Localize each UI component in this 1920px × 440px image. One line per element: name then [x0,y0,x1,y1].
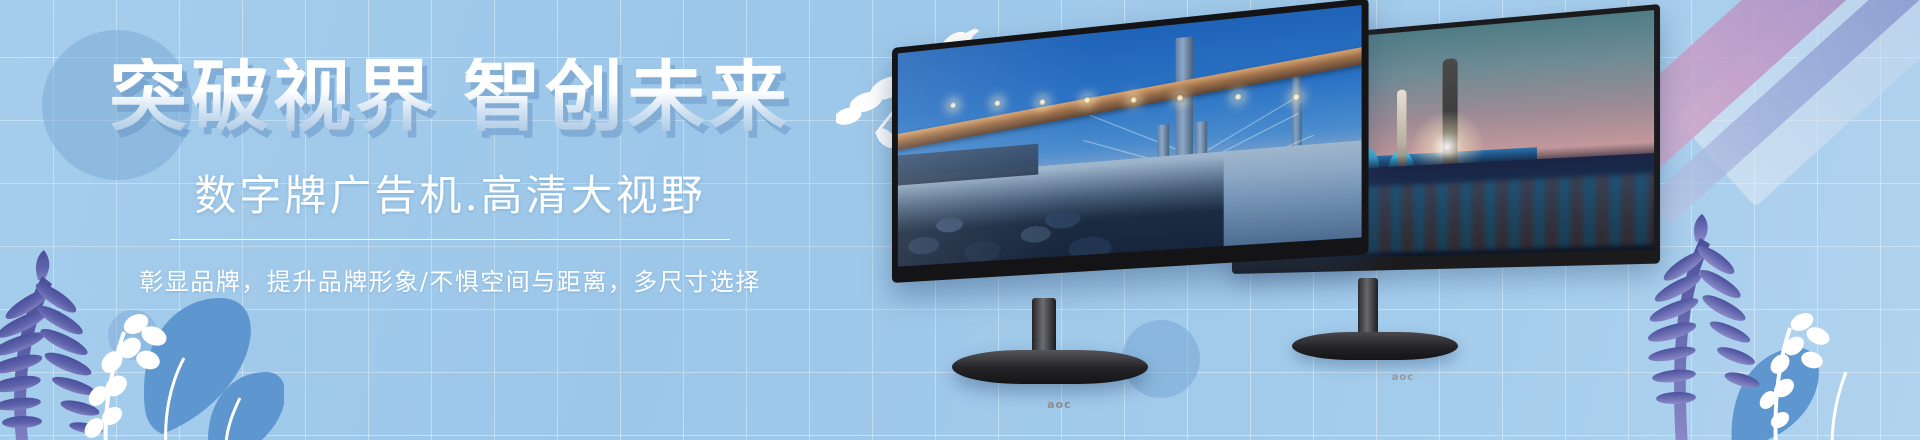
tagline: 彰显品牌，提升品牌形象/不惧空间与距离，多尺寸选择 [0,262,900,297]
page-title: 突破视界智创未来 [0,58,900,136]
product-monitor-front: aoc [892,48,1362,398]
monitor-front-brand-logo: aoc [1047,398,1072,411]
divider-rule [170,239,730,240]
foliage-right-icon [1640,196,1890,440]
promo-banner: 突破视界智创未来 数字牌广告机.高清大视野 彰显品牌，提升品牌形象/不惧空间与距… [0,0,1920,440]
headline-part-1: 突破视界 [109,52,437,142]
headline-part-2: 智创未来 [463,52,791,142]
subhead-row: 数字牌广告机.高清大视野 [0,162,900,223]
monitor-front-stand-base [952,350,1148,384]
copy-block: 突破视界智创未来 数字牌广告机.高清大视野 彰显品牌，提升品牌形象/不惧空间与距… [0,58,900,297]
monitor-front-screen [892,0,1369,283]
subtitle: 数字牌广告机.高清大视野 [194,162,705,223]
monitor-front-glass-reflection [898,5,1362,266]
monitor-back-brand-logo: aoc [1392,372,1415,383]
